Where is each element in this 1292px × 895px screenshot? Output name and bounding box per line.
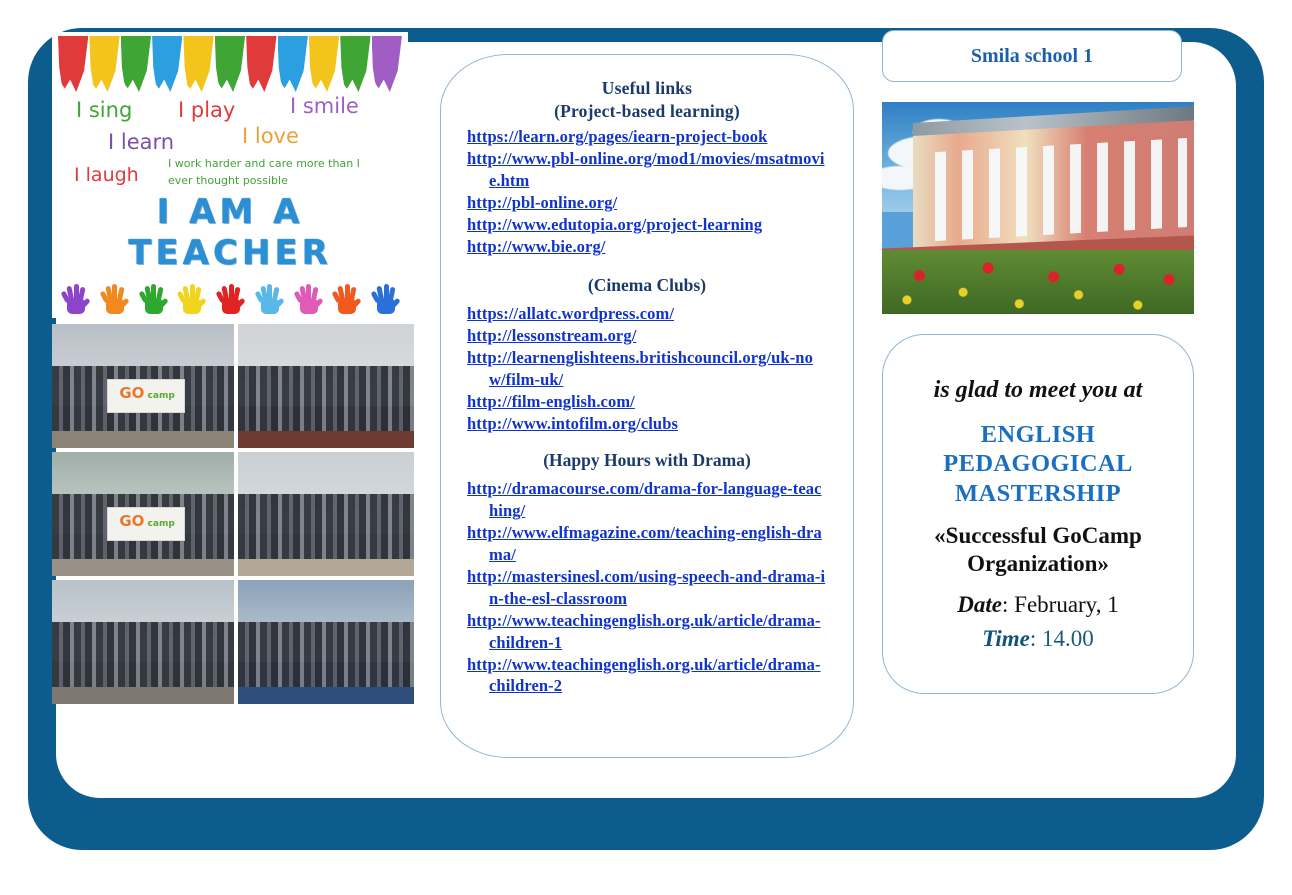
handprint-icon [333,284,361,314]
useful-link[interactable]: http://www.intofilm.org/clubs [467,413,827,435]
students-with-certificates [238,580,414,704]
links-section-project-based: (Project-based learning) [467,100,827,123]
gocamp-assembly-hall: GO camp [52,324,234,448]
corridor-activity [238,452,414,576]
brochure-content: I sing I play I smile I learn I love I l… [40,26,1200,770]
photo-flower-bed [882,250,1194,314]
useful-link[interactable]: http://film-english.com/ [467,391,827,413]
awards-group-photo [52,580,234,704]
date-label: Date [957,592,1002,617]
brush-stroke [58,36,88,92]
useful-link[interactable]: http://lessonstream.org/ [467,325,827,347]
links-title: Useful links [467,77,827,100]
handprint-icon [140,284,168,314]
time-value: : 14.00 [1030,626,1094,651]
event-title: ENGLISH PEDAGOGICAL MASTERSHIP [903,420,1173,508]
useful-link[interactable]: http://dramacourse.com/drama-for-languag… [467,478,827,522]
useful-link[interactable]: http://www.elfmagazine.com/teaching-engl… [467,522,827,566]
useful-link[interactable]: http://learnenglishteens.britishcouncil.… [467,347,827,391]
links-section-cinema-clubs: (Cinema Clubs) [467,274,827,297]
handprint-icon [256,284,284,314]
brush-stroke [246,36,276,92]
links-group-cinema-clubs: https://allatc.wordpress.com/http://less… [467,303,827,435]
invitation-text: is glad to meet you at [903,377,1173,404]
useful-link[interactable]: http://pbl-online.org/ [467,192,827,214]
brush-stroke [89,36,119,92]
brush-stroke [309,36,339,92]
poster-quote: I work harder and care more than I ever … [168,156,378,189]
event-title-line2: PEDAGOGICAL [903,449,1173,478]
event-title-line3: MASTERSHIP [903,479,1173,508]
useful-link[interactable]: http://www.bie.org/ [467,236,827,258]
event-subtitle: «Successful GoCamp Organization» [903,522,1173,578]
poster-headline: I AM A TEACHER [52,192,408,275]
brochure-page: I sing I play I smile I learn I love I l… [0,0,1292,895]
event-date-row: Date: February, 1 [903,592,1173,618]
poster-headline-line2: TEACHER [52,233,408,274]
school-building-photo [882,102,1194,314]
school-name-badge: Smila school 1 [882,30,1182,82]
slogan-i-learn: I learn [108,130,174,154]
links-section-happy-hours-drama: (Happy Hours with Drama) [467,449,827,472]
handprint-icon [101,284,129,314]
useful-link[interactable]: https://allatc.wordpress.com/ [467,303,827,325]
brush-stroke [121,36,151,92]
useful-link[interactable]: http://www.edutopia.org/project-learning [467,214,827,236]
middle-column: Useful links (Project-based learning) ht… [440,54,858,758]
left-column: I sing I play I smile I learn I love I l… [52,32,424,704]
i-am-a-teacher-poster: I sing I play I smile I learn I love I l… [52,32,408,318]
brush-stroke [278,36,308,92]
useful-links-panel: Useful links (Project-based learning) ht… [440,54,854,758]
handprint-icon [178,284,206,314]
useful-link[interactable]: http://www.pbl-online.org/mod1/movies/ms… [467,148,827,192]
event-title-line1: ENGLISH [903,420,1173,449]
time-label: Time [982,626,1030,651]
useful-link[interactable]: http://www.teachingenglish.org.uk/articl… [467,610,827,654]
slogan-i-smile: I smile [290,94,359,118]
links-group-drama: http://dramacourse.com/drama-for-languag… [467,478,827,697]
handprint-icon [217,284,245,314]
students-by-tree-wall [238,324,414,448]
handprint-icon [372,284,400,314]
useful-link[interactable]: http://www.teachingenglish.org.uk/articl… [467,654,827,698]
brush-stroke [215,36,245,92]
event-time-row: Time: 14.00 [903,626,1173,652]
paint-brush-strokes [58,36,402,92]
useful-link[interactable]: http://mastersinesl.com/using-speech-and… [467,566,827,610]
school-name-label: Smila school 1 [971,45,1093,68]
brush-stroke [183,36,213,92]
handprint-row [62,280,400,314]
photo-gallery: GO campGO camp [52,324,414,704]
slogan-i-sing: I sing [76,98,132,122]
brush-stroke [372,36,402,92]
useful-link[interactable]: https://learn.org/pages/iearn-project-bo… [467,126,827,148]
slogan-i-laugh: I laugh [74,164,139,186]
handprint-icon [62,284,90,314]
slogan-i-love: I love [242,124,299,148]
brush-stroke [340,36,370,92]
handprint-icon [295,284,323,314]
gocamp-flag-group: GO camp [52,452,234,576]
photo-windows [919,138,1187,242]
right-column: Smila school 1 is glad to meet you at EN… [882,30,1200,694]
slogan-i-play: I play [178,98,235,122]
event-invitation-card: is glad to meet you at ENGLISH PEDAGOGIC… [882,334,1194,694]
date-value: : February, 1 [1002,592,1119,617]
brush-stroke [152,36,182,92]
poster-headline-line1: I AM A [52,192,408,233]
links-group-project-based: https://learn.org/pages/iearn-project-bo… [467,126,827,258]
poster-slogans: I sing I play I smile I learn I love I l… [52,90,408,200]
